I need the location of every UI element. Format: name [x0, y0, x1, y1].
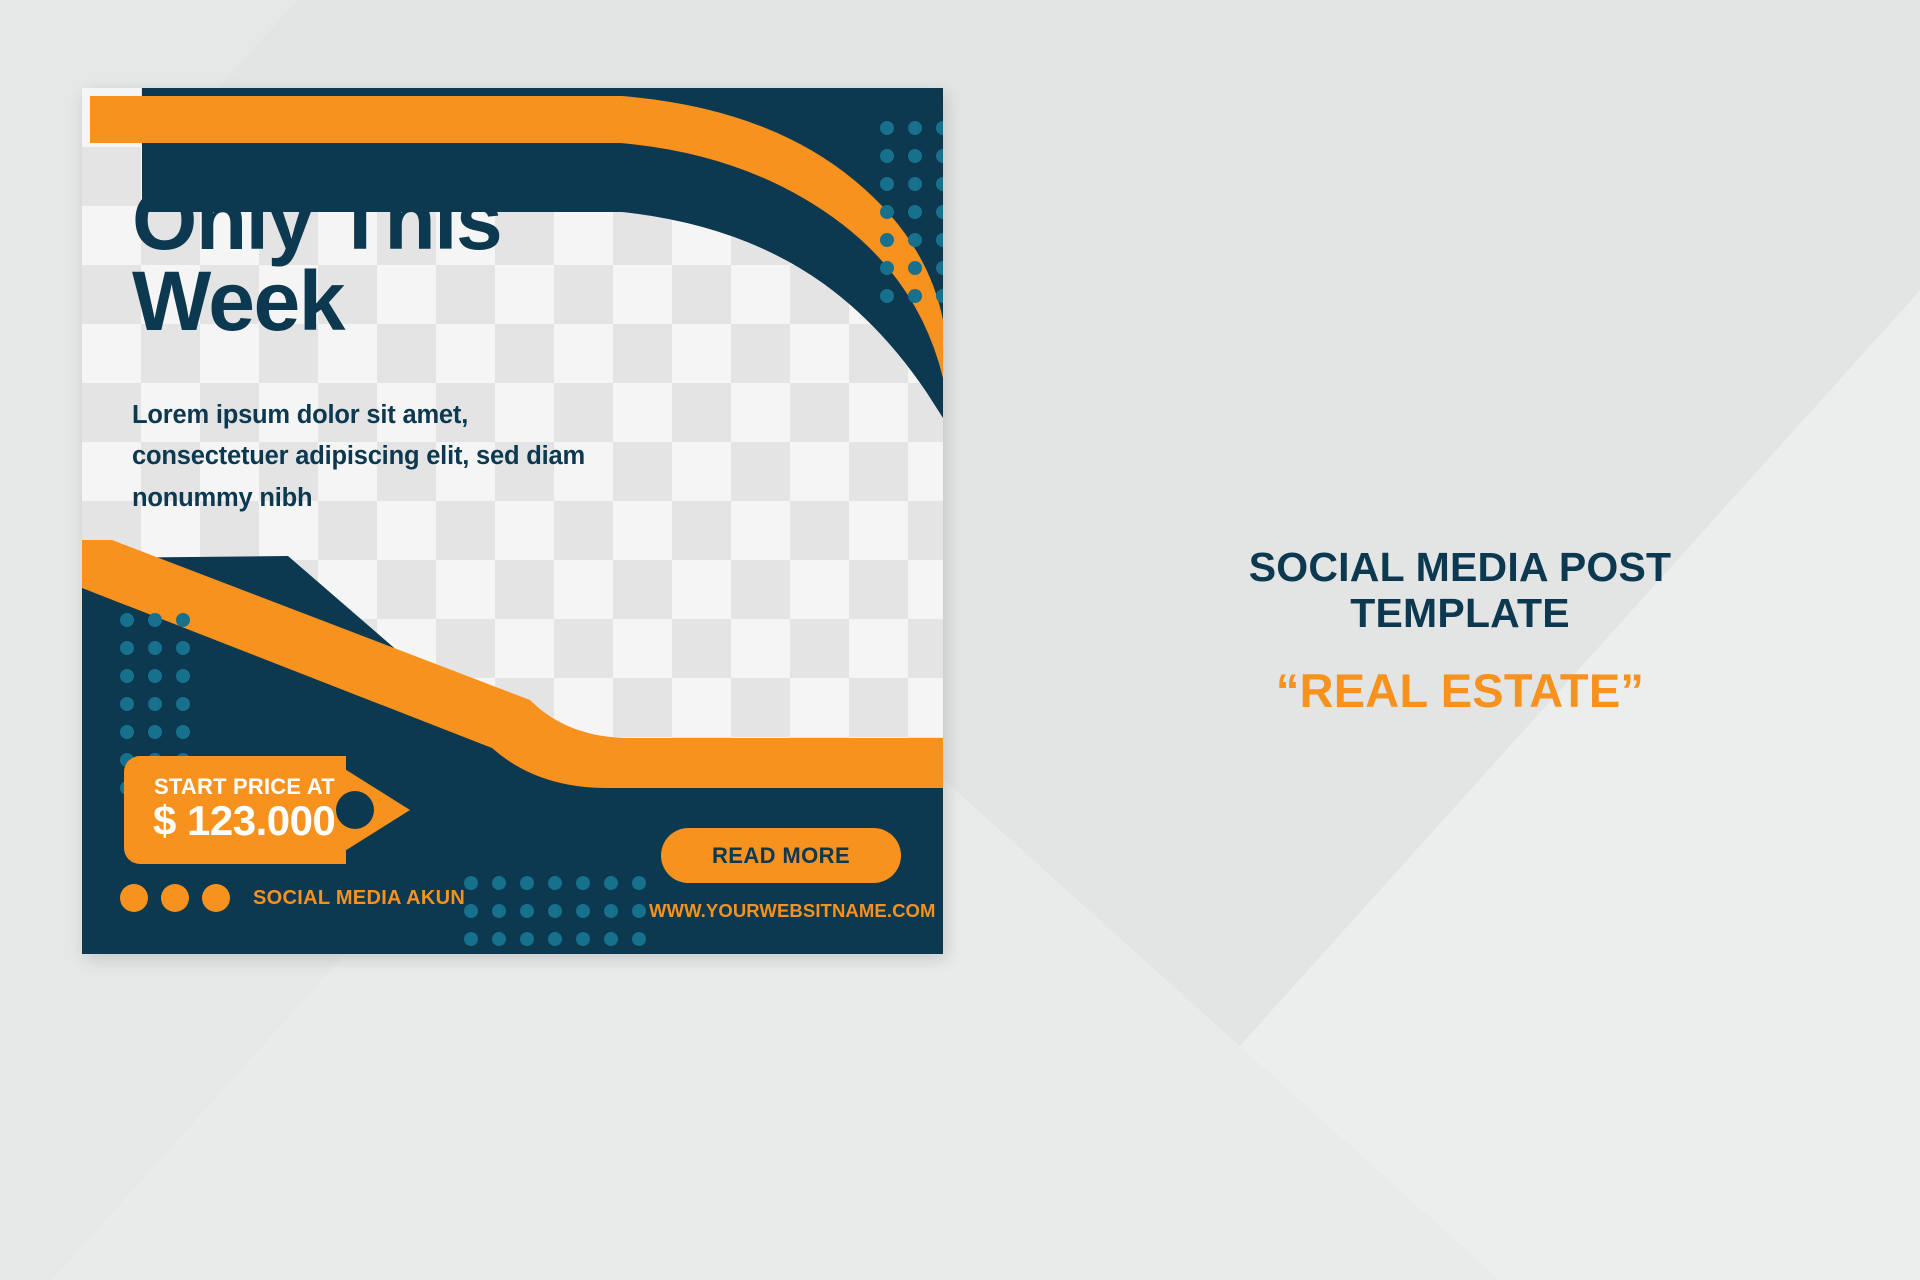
grid-dot: [176, 669, 190, 683]
headline-line-2: Week: [132, 261, 672, 342]
grid-dot: [548, 876, 562, 890]
grid-dot: [604, 904, 618, 918]
price-tag-badge: START PRICE AT $ 123.000: [124, 756, 409, 864]
grid-dot: [936, 233, 943, 247]
grid-dot: [120, 613, 134, 627]
social-icon-1[interactable]: [120, 884, 148, 912]
grid-dot: [604, 932, 618, 946]
grid-dot: [176, 697, 190, 711]
social-media-row: SOCIAL MEDIA AKUN: [120, 884, 465, 912]
social-icon-3[interactable]: [202, 884, 230, 912]
grid-dot: [908, 121, 922, 135]
caption-subtitle: “REAL ESTATE”: [1020, 663, 1900, 718]
headline-line-1: Only This: [132, 180, 672, 261]
grid-dot: [548, 932, 562, 946]
grid-dot: [464, 904, 478, 918]
page-root: Only This Week Lorem ipsum dolor sit ame…: [0, 0, 1920, 1280]
read-more-button[interactable]: READ MORE: [661, 828, 901, 883]
caption-title-line-2: TEMPLATE: [1350, 590, 1570, 636]
grid-dot: [176, 725, 190, 739]
caption-title: SOCIAL MEDIA POST TEMPLATE: [1020, 545, 1900, 637]
body-copy: Lorem ipsum dolor sit amet, consectetuer…: [132, 395, 612, 519]
grid-dot: [908, 261, 922, 275]
grid-dot: [176, 641, 190, 655]
grid-dot: [880, 121, 894, 135]
grid-dot: [908, 177, 922, 191]
grid-dot: [576, 904, 590, 918]
grid-dot: [148, 613, 162, 627]
grid-dot: [632, 932, 646, 946]
grid-dot: [936, 149, 943, 163]
grid-dot: [492, 904, 506, 918]
social-icon-2[interactable]: [161, 884, 189, 912]
dot-grid-top-right: [880, 121, 943, 303]
grid-dot: [120, 641, 134, 655]
grid-dot: [880, 205, 894, 219]
price-tag-amount: $ 123.000: [153, 800, 335, 842]
grid-dot: [936, 177, 943, 191]
grid-dot: [880, 149, 894, 163]
price-tag-hole-icon: [336, 791, 374, 829]
grid-dot: [908, 289, 922, 303]
grid-dot: [908, 205, 922, 219]
social-media-post-card: Only This Week Lorem ipsum dolor sit ame…: [82, 88, 943, 954]
grid-dot: [148, 697, 162, 711]
caption-block: SOCIAL MEDIA POST TEMPLATE “REAL ESTATE”: [1020, 545, 1900, 718]
grid-dot: [176, 613, 190, 627]
grid-dot: [908, 233, 922, 247]
grid-dot: [548, 904, 562, 918]
grid-dot: [120, 725, 134, 739]
grid-dot: [936, 205, 943, 219]
grid-dot: [880, 261, 894, 275]
grid-dot: [464, 876, 478, 890]
grid-dot: [880, 289, 894, 303]
website-url: WWW.YOURWEBSITNAME.COM: [649, 900, 913, 922]
grid-dot: [936, 121, 943, 135]
grid-dot: [632, 876, 646, 890]
grid-dot: [120, 669, 134, 683]
grid-dot: [120, 697, 134, 711]
grid-dot: [604, 876, 618, 890]
grid-dot: [492, 876, 506, 890]
caption-title-line-1: SOCIAL MEDIA POST: [1249, 544, 1672, 590]
grid-dot: [520, 904, 534, 918]
grid-dot: [148, 725, 162, 739]
grid-dot: [880, 233, 894, 247]
social-media-label: SOCIAL MEDIA AKUN: [253, 887, 465, 910]
grid-dot: [936, 261, 943, 275]
grid-dot: [880, 177, 894, 191]
grid-dot: [148, 669, 162, 683]
grid-dot: [148, 641, 162, 655]
headline-block: Only This Week Lorem ipsum dolor sit ame…: [132, 180, 672, 519]
grid-dot: [936, 289, 943, 303]
grid-dot: [576, 876, 590, 890]
grid-dot: [492, 932, 506, 946]
grid-dot: [908, 149, 922, 163]
dot-grid-bottom: [464, 876, 646, 946]
grid-dot: [520, 876, 534, 890]
grid-dot: [632, 904, 646, 918]
grid-dot: [520, 932, 534, 946]
grid-dot: [464, 932, 478, 946]
grid-dot: [576, 932, 590, 946]
